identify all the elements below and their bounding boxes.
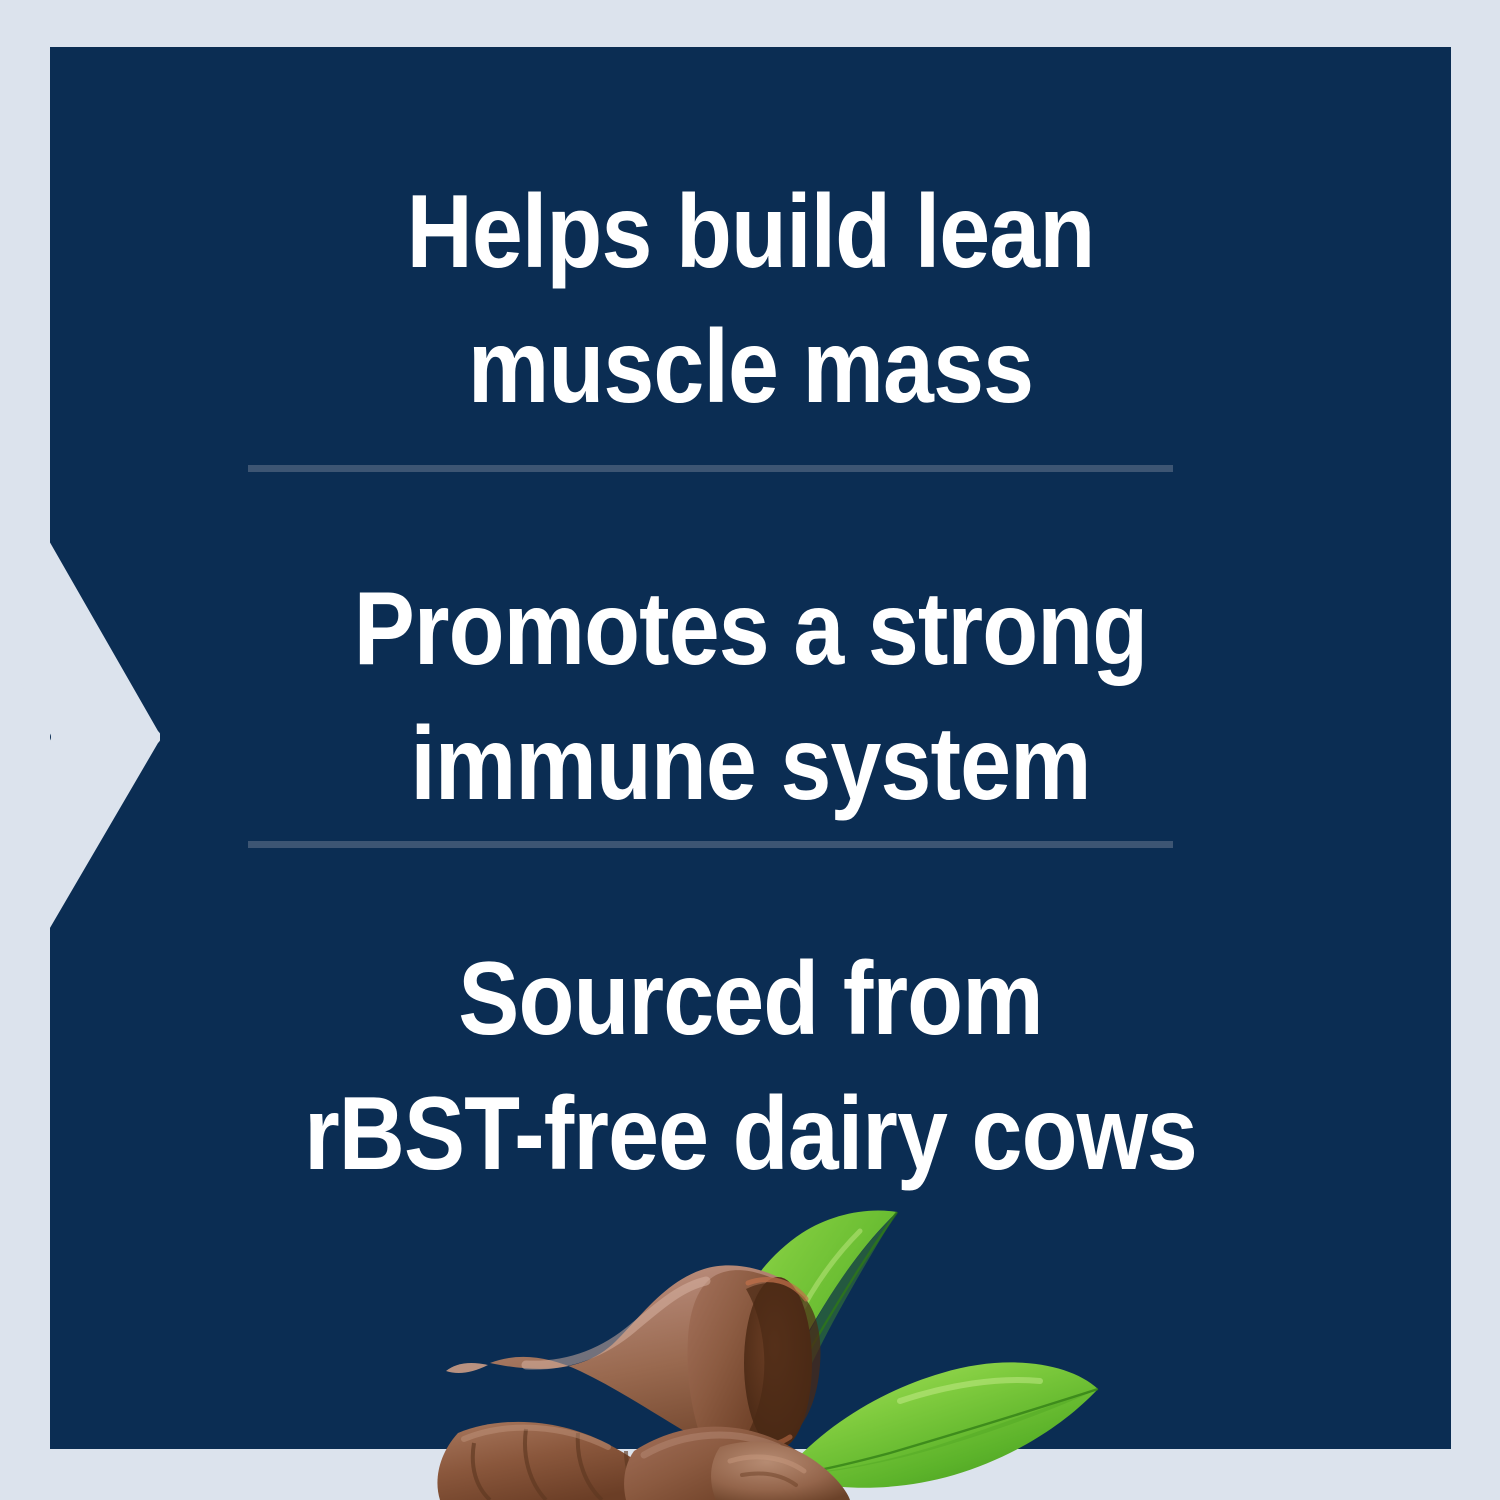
infographic-canvas: Helps build lean muscle mass Promotes a …	[0, 0, 1500, 1500]
benefit-text-lean-muscle-mass: Helps build lean muscle mass	[134, 165, 1367, 435]
benefit-list: Helps build lean muscle mass Promotes a …	[50, 47, 1451, 1449]
benefit-text-rbst-free-dairy: Sourced from rBST-free dairy cows	[134, 932, 1367, 1202]
benefit-text-immune-system: Promotes a strong immune system	[134, 562, 1367, 832]
chocolate-shaving	[711, 1442, 850, 1500]
